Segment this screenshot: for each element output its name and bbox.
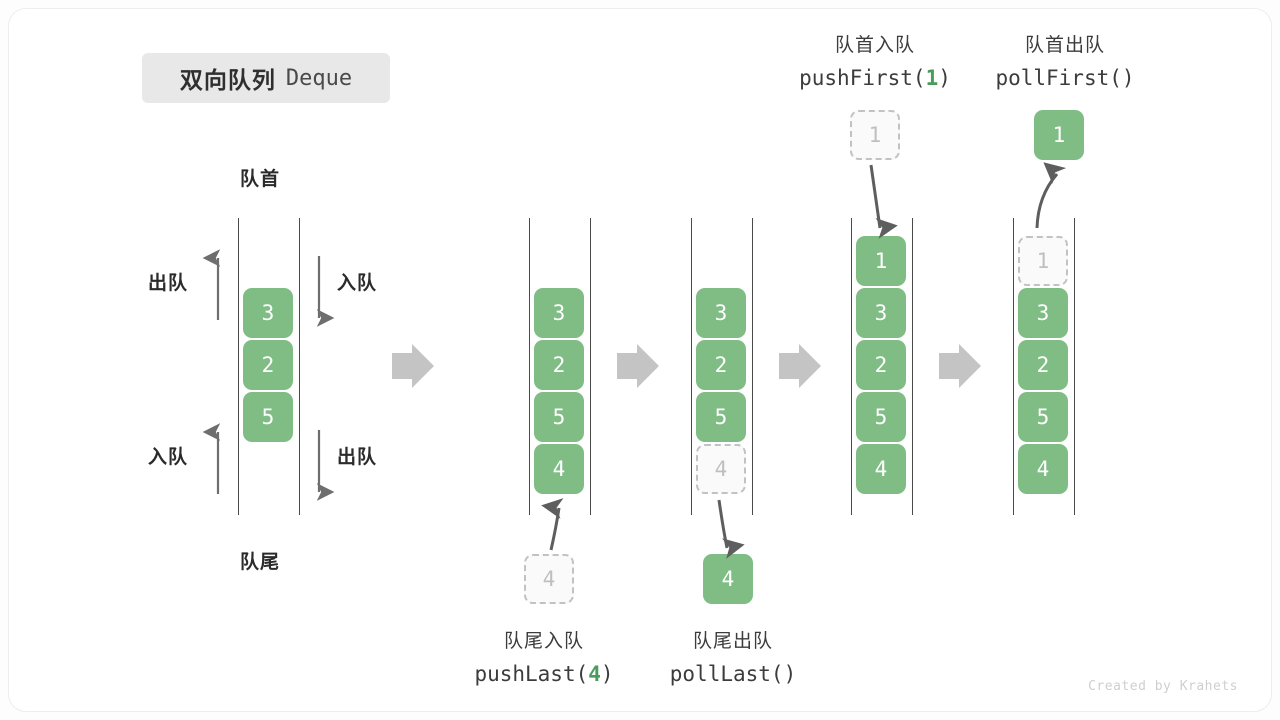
cell-panel2-2: 5 (534, 392, 584, 442)
cell-panel4-3: 5 (856, 392, 906, 442)
cell-panel5-0-ghost: 1 (1018, 236, 1068, 286)
label-rear: 队尾 (240, 547, 280, 574)
diagram-root: 双向队列 Deque 队首 队尾 出队 入队 入队 出队 3 2 5 3 2 5… (0, 0, 1280, 720)
cell-panel5-1: 3 (1018, 288, 1068, 338)
cell-panel4-2: 2 (856, 340, 906, 390)
op-label-poll-last-cn: 队尾出队 (648, 626, 818, 653)
push-first-code-prefix: pushFirst( (799, 66, 925, 90)
push-last-code-arg: 4 (588, 662, 601, 686)
cell-panel2-1: 2 (534, 340, 584, 390)
rail-right-panel-4 (912, 218, 913, 515)
cell-panel4-1: 3 (856, 288, 906, 338)
label-dequeue-top-left: 出队 (148, 268, 188, 295)
op-label-poll-first-cn: 队首出队 (975, 30, 1155, 57)
poll-last-code-prefix: pollLast( (670, 662, 784, 686)
push-first-code-arg: 1 (926, 66, 939, 90)
cell-panel3-0: 3 (696, 288, 746, 338)
floating-cell-poll-first-result: 1 (1034, 110, 1084, 160)
floating-cell-push-first-source: 1 (850, 110, 900, 160)
label-enqueue-bottom-left: 入队 (148, 442, 188, 469)
rail-right-panel-1 (299, 218, 300, 515)
title-chinese: 双向队列 (180, 61, 276, 95)
cell-panel4-4: 4 (856, 444, 906, 494)
op-label-push-last-cn: 队尾入队 (459, 626, 629, 653)
title-english: Deque (286, 66, 352, 91)
op-label-push-last-code: pushLast(4) (459, 662, 629, 686)
floating-cell-push-last-source: 4 (524, 554, 574, 604)
poll-first-code-prefix: pollFirst( (995, 66, 1121, 90)
rail-right-panel-5 (1074, 218, 1075, 515)
floating-cell-poll-last-result: 4 (703, 554, 753, 604)
label-enqueue-top-right: 入队 (337, 268, 377, 295)
rail-left-panel-1 (238, 218, 239, 515)
op-label-push-first-code: pushFirst(1) (785, 66, 965, 90)
push-first-code-suffix: ) (938, 66, 951, 90)
rail-right-panel-2 (590, 218, 591, 515)
rail-left-panel-5 (1013, 218, 1014, 515)
rail-right-panel-3 (752, 218, 753, 515)
rail-left-panel-3 (691, 218, 692, 515)
cell-panel1-0: 3 (243, 288, 293, 338)
cell-panel1-1: 2 (243, 340, 293, 390)
rail-left-panel-4 (851, 218, 852, 515)
cell-panel5-4: 4 (1018, 444, 1068, 494)
cell-panel1-2: 5 (243, 392, 293, 442)
cell-panel2-3: 4 (534, 444, 584, 494)
rail-left-panel-2 (529, 218, 530, 515)
op-label-poll-last-code: pollLast() (648, 662, 818, 686)
cell-panel3-2: 5 (696, 392, 746, 442)
cell-panel3-3-ghost: 4 (696, 444, 746, 494)
watermark: Created by Krahets (1088, 679, 1238, 694)
poll-last-code-suffix: ) (784, 662, 797, 686)
title-badge: 双向队列 Deque (142, 53, 390, 103)
op-label-poll-first-code: pollFirst() (975, 66, 1155, 90)
cell-panel3-1: 2 (696, 340, 746, 390)
cell-panel2-0: 3 (534, 288, 584, 338)
cell-panel5-3: 5 (1018, 392, 1068, 442)
label-dequeue-bottom-right: 出队 (337, 442, 377, 469)
poll-first-code-suffix: ) (1122, 66, 1135, 90)
op-label-push-first-cn: 队首入队 (785, 30, 965, 57)
cell-panel5-2: 2 (1018, 340, 1068, 390)
push-last-code-prefix: pushLast( (474, 662, 588, 686)
label-front: 队首 (240, 164, 280, 191)
push-last-code-suffix: ) (601, 662, 614, 686)
cell-panel4-0: 1 (856, 236, 906, 286)
